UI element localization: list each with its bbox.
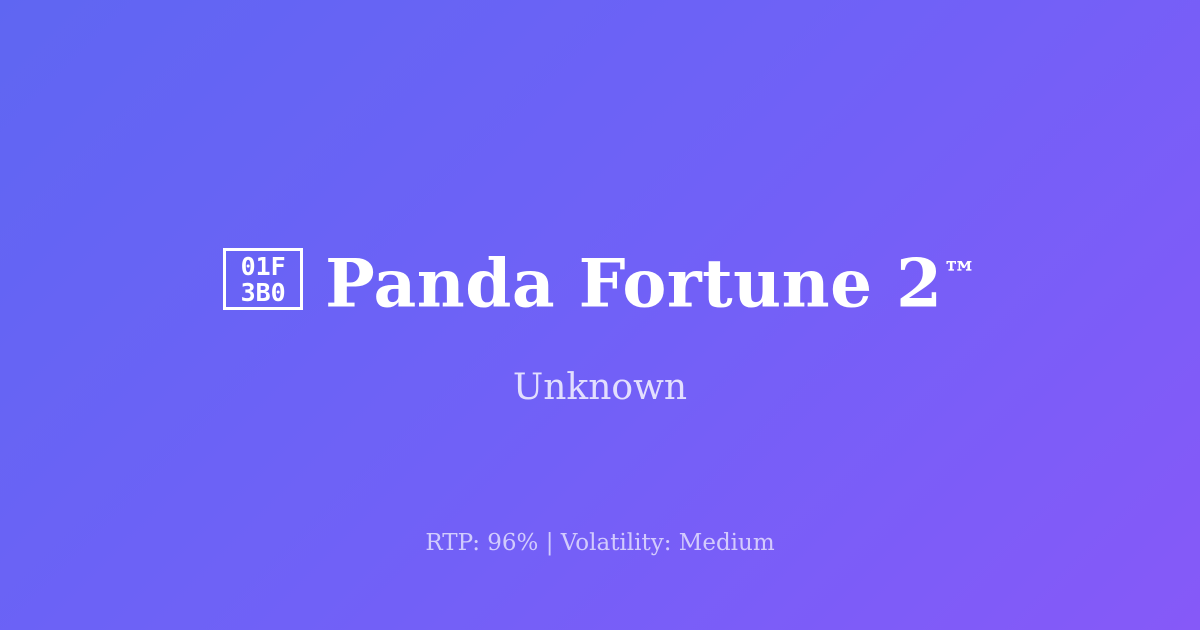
game-preview-card: 01F 3B0 Panda Fortune 2™ Unknown RTP: 96… <box>0 0 1200 630</box>
page-title-text: Panda Fortune 2 <box>325 245 942 323</box>
provider-subtitle: Unknown <box>0 366 1200 410</box>
title-row: 01F 3B0 Panda Fortune 2™ <box>0 236 1200 323</box>
slot-machine-icon: 01F 3B0 <box>223 248 303 310</box>
page-title: Panda Fortune 2™ <box>325 236 977 323</box>
game-stats-meta: RTP: 96% | Volatility: Medium <box>0 528 1200 558</box>
slot-machine-icon-codepoint-high: 01F <box>241 254 286 280</box>
trademark-symbol: ™ <box>943 255 977 295</box>
slot-machine-icon-codepoint-low: 3B0 <box>241 280 286 306</box>
